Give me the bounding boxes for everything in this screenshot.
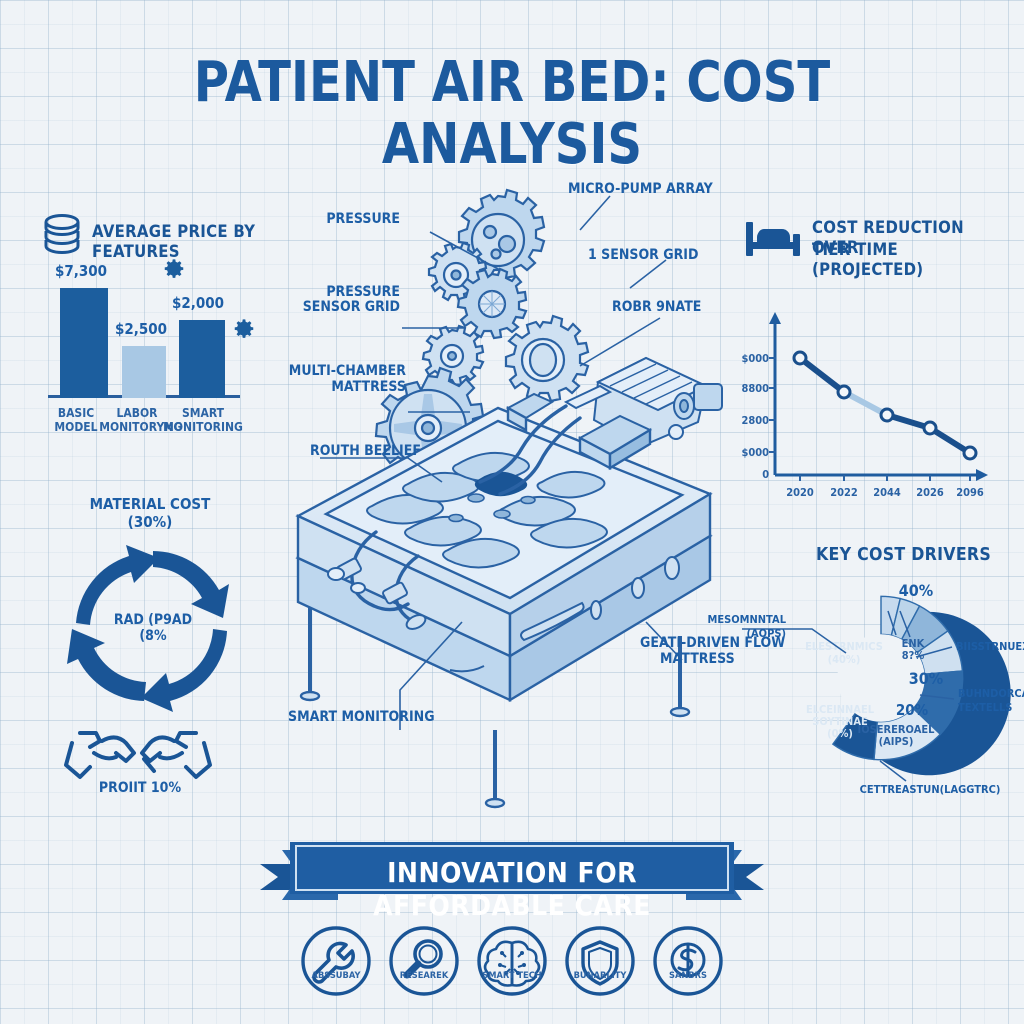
- blueprint-leader-lines: [280, 170, 750, 800]
- magnifier-icon: [407, 941, 441, 975]
- bar-0: [60, 288, 108, 398]
- callout-sensor-grid: 1 SENSOR GRID: [588, 248, 732, 263]
- donut-callout-right-top: BIISSTRNUEXE.: [956, 640, 1024, 653]
- footer-icon-research[interactable]: RESEAREK: [388, 925, 460, 997]
- callout-pressure: PRESSURE: [283, 212, 400, 227]
- cycle-bottom-label: PROIIT 10%: [82, 781, 199, 796]
- callout-flow-mattress-2: MATTRESS: [660, 652, 822, 667]
- footer-label-savings: SANBRS: [647, 971, 730, 981]
- coin-stack-icon: [42, 214, 82, 258]
- cycle-top-label-2: (30%): [74, 515, 227, 530]
- donut-callout-right-mid-1: BUHNDORCAL: [958, 687, 1024, 700]
- bar-value-0: $7,300: [53, 262, 109, 280]
- callout-smart-monitoring: SMART MONITORING: [288, 710, 441, 725]
- x-tick-1: 2022: [826, 486, 862, 499]
- footer-icon-durability[interactable]: BUNARLITY: [564, 925, 636, 997]
- callout-micro-pump-array: MICRO-PUMP ARRAY: [568, 182, 730, 197]
- bar-1: [122, 346, 166, 398]
- footer-label-durability: BUNARLITY: [559, 971, 642, 981]
- footer-label-research: RESEAREK: [383, 971, 466, 981]
- x-tick-3: 2026: [912, 486, 948, 499]
- callout-pressure-sensor-2: SENSOR GRID: [265, 300, 400, 315]
- bar-chart-panel: AVERAGE PRICE BY FEATURES $7,300 $2,500 …: [40, 208, 290, 438]
- x-tick-4: 2096: [952, 486, 988, 499]
- callout-flow-mattress-1: GEATI-DRIVEN FLOW: [640, 636, 802, 651]
- footer-label-assembly: ABSSUBAY: [295, 971, 378, 981]
- donut-callout-right-mid-2: TEXTELLS: [958, 701, 1024, 714]
- callout-pressure-relief: ROUTH BEELIEF: [310, 444, 445, 459]
- y-tick-4: 0: [755, 468, 769, 481]
- line-chart-panel: COST REDUCTION OVER TIER TIME (PROJECTED…: [742, 210, 1012, 510]
- x-tick-0: 2020: [782, 486, 818, 499]
- callout-pressure-sensor-1: PRESSURE: [265, 285, 400, 300]
- banner: INNOVATION FOR AFFORDABLE CARE: [252, 836, 772, 906]
- bar-chart-heading: AVERAGE PRICE BY FEATURES: [92, 222, 294, 262]
- bar-chart-plot: $7,300 $2,500 $2,000: [48, 263, 238, 398]
- cost-cycle-panel: MATERIAL COST (30%) RAD (P9AD (8%: [40, 495, 290, 805]
- bar-2: [179, 320, 225, 398]
- footer-icon-savings[interactable]: SANBRS: [652, 925, 724, 997]
- line-chart-heading-2: TIER TIME (PROJECTED): [812, 240, 997, 280]
- page-title: PATIENT AIR BED: COST ANALYSIS: [72, 52, 953, 176]
- cycle-top-label-1: MATERIAL COST: [74, 497, 227, 512]
- donut-callout-bottom: CETTREASTUN(LAGGTRC): [840, 783, 1020, 796]
- bar-value-2: $2,000: [170, 294, 226, 312]
- footer-icon-assembly[interactable]: ABSSUBAY: [300, 925, 372, 997]
- cycle-center-label-1: RAD (P9AD: [95, 613, 212, 628]
- donut-heading: KEY COST DRIVERS: [816, 545, 992, 565]
- footer-icon-smart-tech[interactable]: SMART TECH: [476, 925, 548, 997]
- callout-rotor: ROBR 9NATE: [612, 300, 747, 315]
- footer-icon-row: ABSSUBAY RESEAREK: [300, 925, 724, 1005]
- callout-multi-chamber-1: MULTI-CHAMBER: [246, 364, 406, 379]
- callout-multi-chamber-2: MATTRESS: [246, 380, 406, 395]
- line-chart-plot: $000 8800 2800 $000 0 2020 2022 2044 202…: [742, 310, 1002, 500]
- hospital-bed-icon: [744, 214, 802, 258]
- handshake-icon: [58, 727, 218, 785]
- banner-text: INNOVATION FOR AFFORDABLE CARE: [312, 856, 712, 922]
- x-tick-2: 2044: [869, 486, 905, 499]
- bar-value-1: $2,500: [113, 320, 169, 338]
- cycle-center-label-2: (8%: [95, 629, 212, 644]
- donut-chart-panel: KEY COST DRIVERS ELESTRNMI: [760, 545, 1024, 810]
- infographic-page: PATIENT AIR BED: COST ANALYSIS AVERAGE P…: [0, 0, 1024, 1024]
- footer-label-smart-tech: SMART TECH: [471, 971, 554, 981]
